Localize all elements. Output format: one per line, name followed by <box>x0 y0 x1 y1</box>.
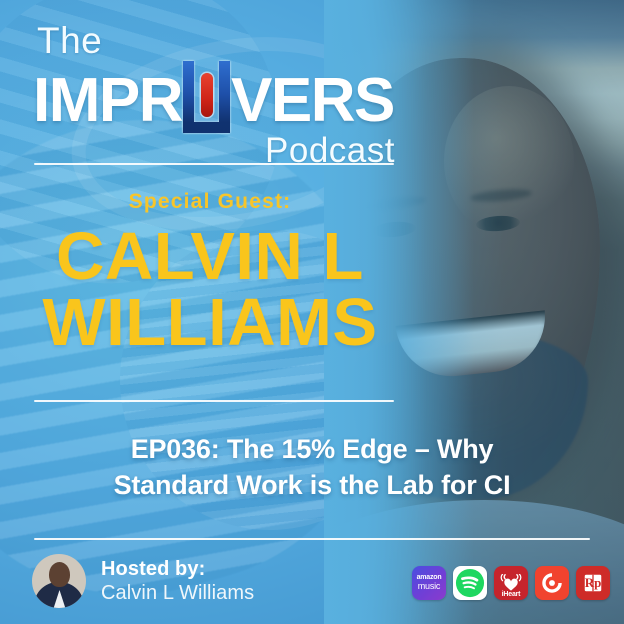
amazon-music-icon[interactable]: amazon music <box>412 566 446 600</box>
show-logo: The IMPR VERS Podcast <box>33 22 403 168</box>
iheart-icon[interactable]: iHeart <box>494 566 528 600</box>
logo-the-text: The <box>37 22 403 59</box>
platform-badges: amazon music iHeart <box>412 566 610 600</box>
amazon-music-line-2: music <box>418 581 441 591</box>
logo-u-microphone-bar <box>201 73 213 117</box>
radiopublic-label: Rp <box>585 575 602 591</box>
iheart-label: iHeart <box>494 591 528 598</box>
host-name: Calvin L Williams <box>101 581 254 605</box>
episode-title: EP036: The 15% Edge – Why Standard Work … <box>28 432 596 504</box>
guest-name-line-1: CALVIN L <box>56 219 364 294</box>
host-text: Hosted by: Calvin L Williams <box>101 557 254 606</box>
guest-name-line-2: WILLIAMS <box>0 290 420 356</box>
logo-word-right: VERS <box>231 72 394 131</box>
logo-wordmark: IMPR VERS <box>33 61 403 131</box>
divider-top <box>34 163 394 165</box>
logo-word-left: IMPR <box>33 72 182 131</box>
amazon-music-line-1: amazon <box>417 574 442 581</box>
logo-microphone-u-icon <box>183 61 230 133</box>
host-avatar <box>32 554 86 608</box>
episode-title-line-1: EP036: The 15% Edge – Why <box>131 434 494 464</box>
spotify-icon[interactable] <box>453 566 487 600</box>
podcast-cover-art: The IMPR VERS Podcast Special Guest: CAL… <box>0 0 624 624</box>
host-block: Hosted by: Calvin L Williams <box>32 554 254 608</box>
episode-title-line-2: Standard Work is the Lab for CI <box>114 470 511 500</box>
divider-bottom <box>34 538 590 540</box>
divider-middle <box>34 400 394 402</box>
special-guest-label: Special Guest: <box>0 190 420 214</box>
hosted-by-label: Hosted by: <box>101 557 254 581</box>
avatar-head <box>49 562 70 587</box>
pocket-casts-icon[interactable] <box>535 566 569 600</box>
guest-name: CALVIN L WILLIAMS <box>0 224 420 355</box>
radiopublic-icon[interactable]: Rp <box>576 566 610 600</box>
